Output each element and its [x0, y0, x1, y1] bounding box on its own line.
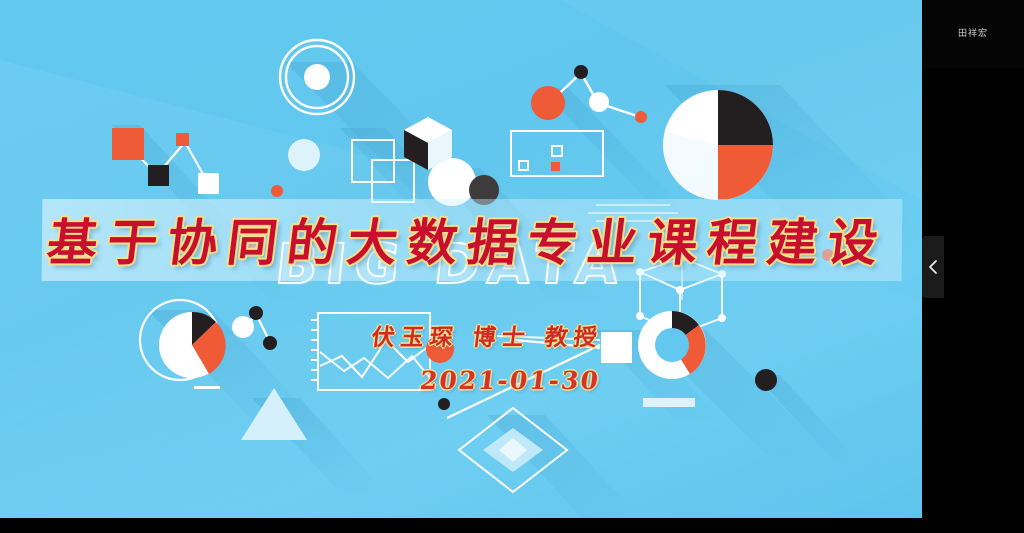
- screen-root: BIG DATA 基 于 协 同 的 大 数 据 专 业 课 程 建 设 伏玉琛…: [0, 0, 1024, 533]
- title-char: 同: [224, 203, 283, 275]
- overlapping-squares: [352, 140, 414, 202]
- participant-tile[interactable]: 田祥宏: [922, 0, 1024, 68]
- donut-caption-bar: [643, 398, 695, 407]
- title-char: 专: [524, 203, 583, 275]
- pie-chart-large: [663, 90, 773, 200]
- title-char: 协: [164, 203, 223, 275]
- bn-circle-dark-2: [263, 336, 277, 350]
- shared-screen-video[interactable]: BIG DATA 基 于 协 同 的 大 数 据 专 业 课 程 建 设 伏玉琛…: [0, 0, 922, 518]
- connector-square-white: [601, 332, 632, 363]
- node-network-top-right: [548, 73, 640, 117]
- title-char: 程: [704, 203, 763, 275]
- node-square-small-orange: [176, 133, 189, 146]
- net-circle-orange: [531, 86, 565, 120]
- triangle-graphic: [241, 388, 307, 440]
- outline-ring-bottom-left: [140, 300, 220, 380]
- node-network-bottom: [246, 314, 270, 342]
- net-circle-dark: [574, 65, 588, 79]
- title-char: 大: [344, 203, 403, 275]
- letterbox-bottom: [0, 518, 922, 533]
- chevron-left-icon[interactable]: [922, 236, 944, 298]
- cube-solid-icon: [404, 117, 452, 170]
- dash-mark-left: [194, 386, 220, 389]
- connector-dot-dark: [438, 398, 450, 410]
- bn-circle-white: [232, 316, 254, 338]
- donut-chart-graphic: [638, 311, 706, 379]
- diamond-graphic: [459, 408, 567, 492]
- title-char: 基: [44, 203, 103, 275]
- node-square-dark: [148, 165, 169, 186]
- outlined-panel-graphic: [511, 131, 603, 176]
- slide-date: 2021-01-30: [418, 366, 601, 395]
- title-char: 建: [764, 203, 823, 275]
- node-network-left: [131, 142, 208, 183]
- slide-presenter: 伏玉琛 博士 教授: [370, 318, 605, 352]
- net-circle-white: [589, 92, 609, 112]
- node-square-orange: [112, 128, 144, 160]
- bn-circle-dark-1: [249, 306, 263, 320]
- ring-center-dot: [304, 64, 330, 90]
- concentric-ring-graphic: [280, 40, 354, 114]
- node-square-white: [198, 173, 219, 194]
- title-char: 数: [404, 203, 463, 275]
- dot-dark-right: [755, 369, 777, 391]
- participant-rail: 田祥宏: [922, 0, 1024, 533]
- title-char: 据: [464, 203, 523, 275]
- title-char: 业: [584, 203, 643, 275]
- net-circle-small-orange: [635, 111, 647, 123]
- title-char: 设: [824, 203, 883, 275]
- title-char: 于: [104, 203, 163, 275]
- title-char: 课: [644, 203, 703, 275]
- pale-circle: [288, 139, 320, 171]
- pie-chart-small: [159, 312, 226, 378]
- title-char: 的: [284, 203, 343, 275]
- participant-name: 田祥宏: [922, 26, 1024, 39]
- slide-title: 基 于 协 同 的 大 数 据 专 业 课 程 建 设: [43, 200, 883, 278]
- accent-dot-orange: [271, 185, 283, 197]
